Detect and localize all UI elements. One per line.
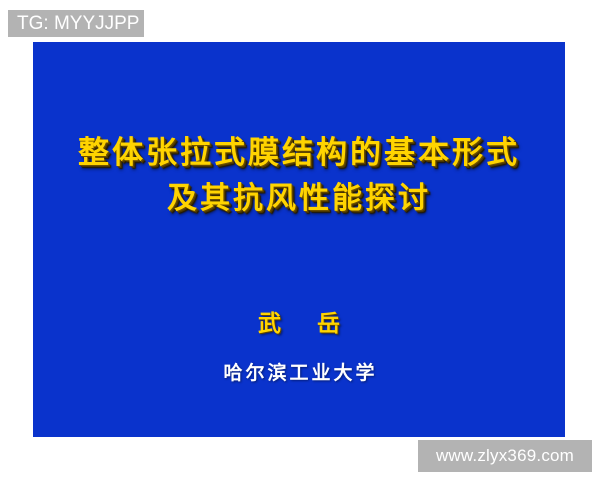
screenshot-canvas: 整体张拉式膜结构的基本形式 及其抗风性能探讨 武 岳 哈尔滨工业大学 TG: M…	[0, 0, 600, 480]
slide-title-line-2: 及其抗风性能探讨	[33, 176, 565, 222]
presentation-slide: 整体张拉式膜结构的基本形式 及其抗风性能探讨 武 岳 哈尔滨工业大学	[33, 42, 565, 437]
site-watermark-badge: www.zlyx369.com	[418, 440, 592, 472]
slide-title: 整体张拉式膜结构的基本形式 及其抗风性能探讨	[33, 130, 565, 222]
site-watermark-label: www.zlyx369.com	[436, 446, 574, 466]
tg-watermark-label: TG: MYYJJPP	[8, 13, 139, 35]
tg-watermark-badge: TG: MYYJJPP	[8, 10, 144, 37]
slide-author-name: 武 岳	[33, 304, 565, 338]
slide-affiliation: 哈尔滨工业大学	[33, 358, 565, 385]
slide-title-line-1: 整体张拉式膜结构的基本形式	[33, 130, 565, 176]
